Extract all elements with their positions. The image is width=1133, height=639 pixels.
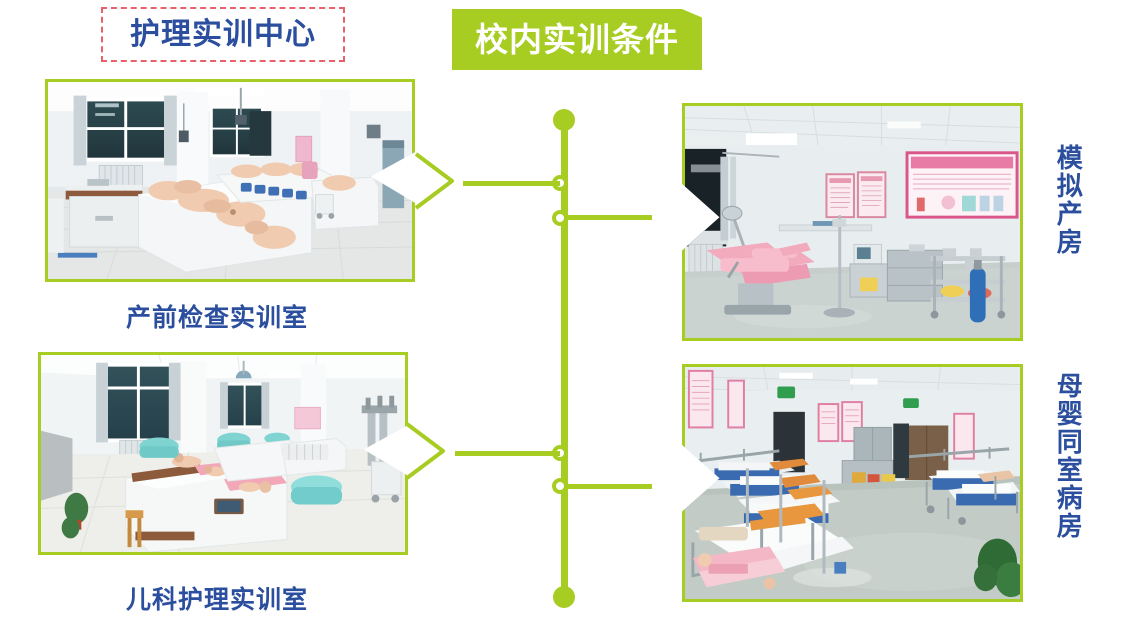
- label-simulated-delivery-room: 模拟产房: [1050, 144, 1083, 256]
- section-banner: 校内实训条件: [452, 9, 702, 70]
- timeline-spine: [561, 118, 568, 605]
- timeline-cap-bottom: [553, 586, 575, 608]
- center-title-box: 护理实训中心: [101, 7, 345, 62]
- connector-right-bottom: [566, 484, 652, 489]
- arrow-wedge-bottom: [405, 422, 447, 480]
- caption-prenatal-exam-lab: 产前检查实训室: [126, 298, 308, 334]
- connector-left-top: [463, 181, 560, 186]
- photo-prenatal-exam-lab[interactable]: [45, 79, 415, 282]
- photo-pediatric-nursing-lab[interactable]: [38, 352, 408, 555]
- section-banner-label: 校内实训条件: [475, 23, 679, 56]
- photo-rooming-in-ward[interactable]: [682, 364, 1023, 602]
- slide-canvas: 护理实训中心 校内实训条件: [0, 0, 1133, 639]
- photo-simulated-delivery-room[interactable]: [682, 103, 1023, 341]
- page-title: 护理实训中心: [130, 20, 316, 50]
- label-rooming-in-ward: 母婴同室病房: [1050, 372, 1083, 540]
- connector-right-top: [566, 215, 652, 220]
- arrow-wedge-top: [414, 152, 456, 210]
- timeline-cap-top: [553, 109, 575, 131]
- caption-pediatric-nursing-lab: 儿科护理实训室: [126, 580, 308, 616]
- connector-left-bottom: [455, 451, 560, 456]
